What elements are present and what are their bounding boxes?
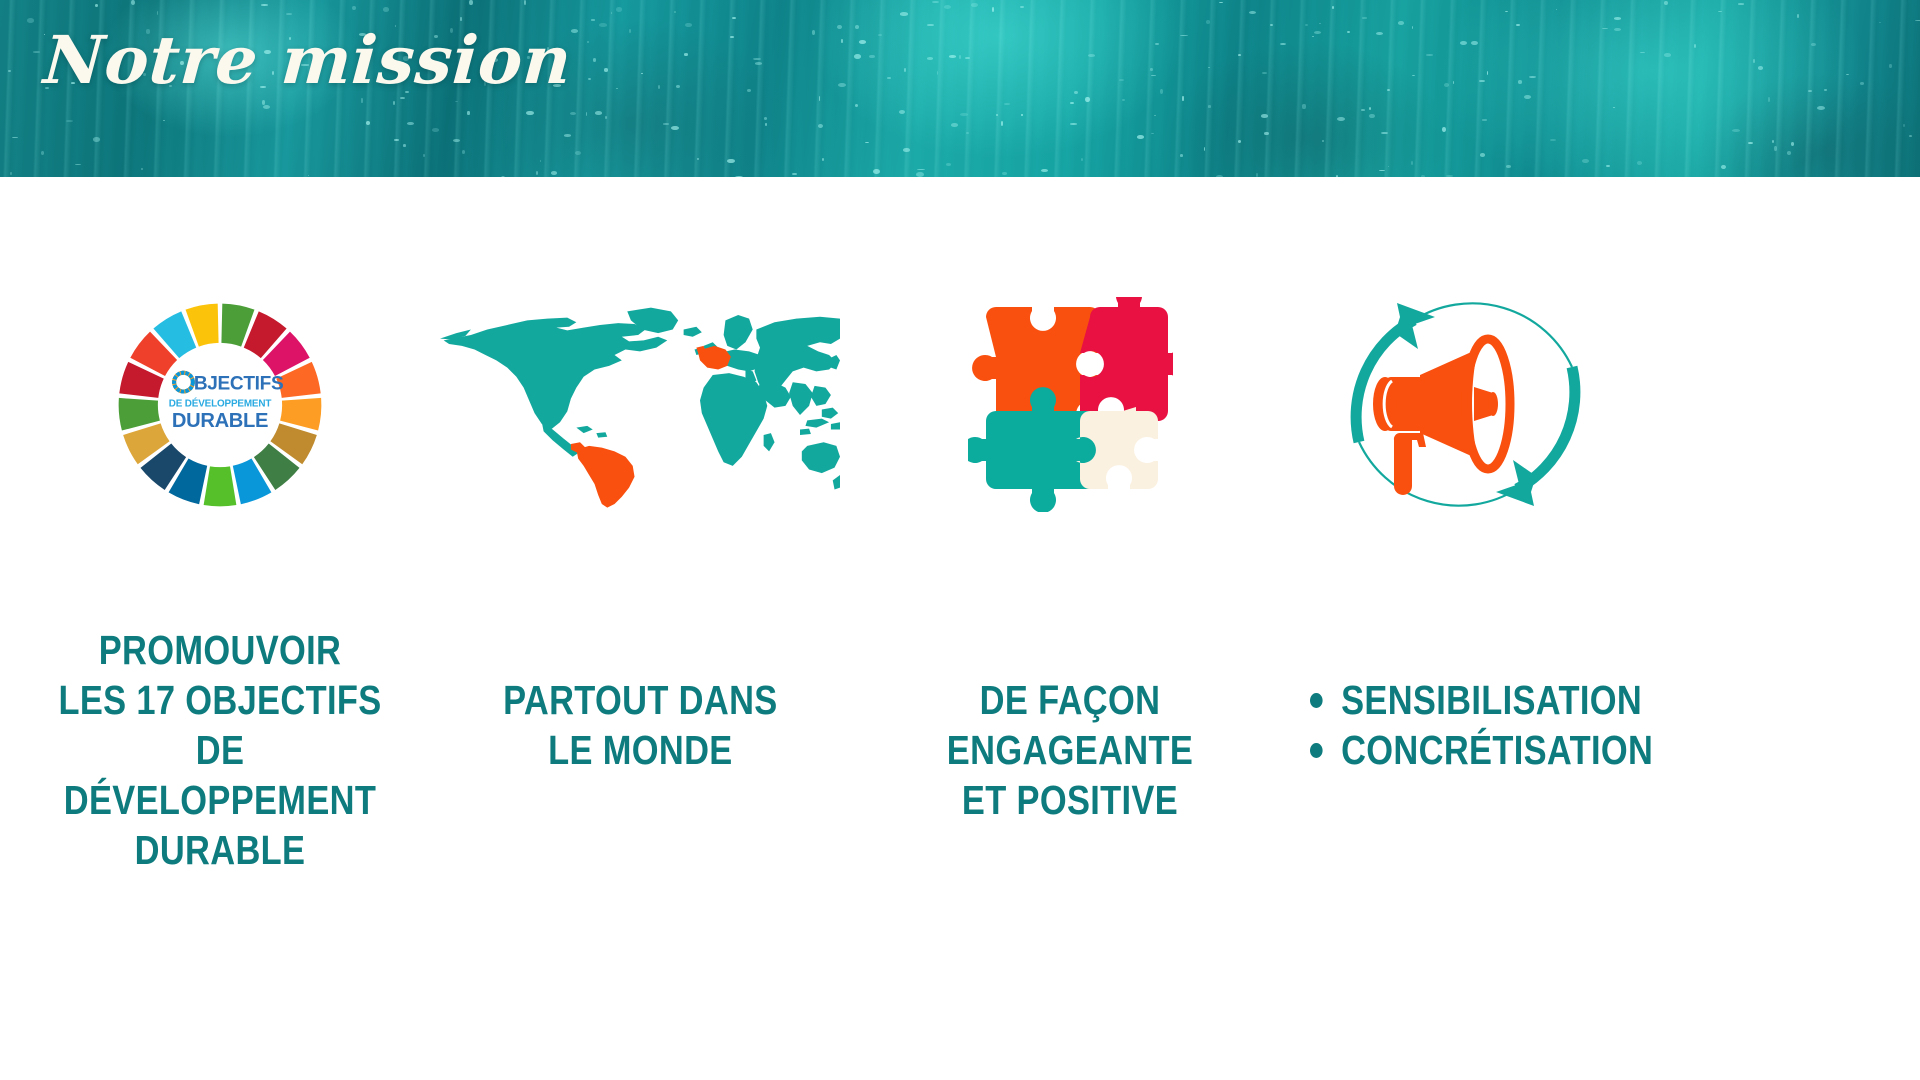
texture-speckle <box>1088 54 1095 57</box>
texture-speckle <box>812 30 816 35</box>
texture-speckle <box>1550 139 1556 142</box>
texture-speckle <box>927 24 934 27</box>
texture-speckle <box>8 70 11 72</box>
texture-speckle <box>949 55 956 58</box>
texture-speckle <box>551 171 557 175</box>
texture-speckle <box>10 172 11 175</box>
texture-speckle <box>903 148 909 152</box>
texture-speckle <box>900 12 908 15</box>
texture-speckle <box>1302 104 1305 108</box>
texture-speckle <box>616 88 618 90</box>
megaphone-cycle-icon-slot <box>1310 177 1920 507</box>
texture-speckle <box>1001 121 1004 126</box>
texture-speckle <box>591 19 595 20</box>
texture-speckle <box>965 57 970 59</box>
texture-speckle <box>352 6 356 10</box>
texture-speckle <box>1041 169 1048 173</box>
texture-speckle <box>959 55 961 58</box>
texture-speckle <box>671 126 679 130</box>
texture-speckle <box>841 39 843 44</box>
texture-speckle <box>526 111 534 116</box>
texture-speckle <box>1824 89 1827 90</box>
texture-speckle <box>1379 170 1385 171</box>
texture-speckle <box>946 163 951 166</box>
texture-speckle <box>641 73 642 75</box>
texture-speckle <box>1613 107 1615 108</box>
texture-speckle <box>1070 123 1077 125</box>
texture-speckle <box>611 12 612 14</box>
texture-speckle <box>792 173 797 176</box>
texture-speckle <box>1412 75 1415 76</box>
texture-speckle <box>873 169 880 174</box>
texture-speckle <box>1160 89 1163 93</box>
slide-root: Notre mission <box>0 0 1920 1080</box>
pillar-actions: SENSIBILISATION CONCRÉTISATION <box>1300 177 1920 875</box>
bullet-label: SENSIBILISATION <box>1341 675 1642 725</box>
texture-speckle <box>1085 97 1090 102</box>
texture-speckle <box>1376 32 1383 35</box>
puzzle-piece-crimson <box>1080 297 1173 421</box>
texture-speckle <box>1721 165 1726 169</box>
texture-speckle <box>163 120 164 121</box>
texture-speckle <box>564 134 571 136</box>
texture-speckle <box>960 113 968 117</box>
texture-speckle <box>570 112 576 115</box>
texture-speckle <box>855 104 858 107</box>
texture-speckle <box>308 175 309 176</box>
sdg-wheel-segment <box>204 466 237 506</box>
texture-speckle <box>697 158 700 160</box>
texture-speckle <box>869 55 875 58</box>
texture-speckle <box>1903 124 1905 126</box>
texture-speckle <box>1614 17 1622 20</box>
texture-speckle <box>1479 80 1485 82</box>
texture-speckle <box>394 139 399 141</box>
texture-speckle <box>1322 140 1325 143</box>
texture-speckle <box>996 114 998 116</box>
texture-speckle <box>1774 146 1776 151</box>
texture-speckle <box>75 164 81 165</box>
bullet-label: CONCRÉTISATION <box>1341 725 1653 775</box>
texture-speckle <box>605 116 607 119</box>
megaphone-cycle-icon <box>1328 287 1603 522</box>
texture-speckle <box>1442 127 1446 132</box>
texture-speckle <box>1020 6 1024 8</box>
texture-speckle <box>1204 147 1206 151</box>
texture-speckle <box>12 137 18 138</box>
texture-speckle <box>1412 26 1413 29</box>
texture-speckle <box>1208 67 1210 69</box>
texture-speckle <box>819 96 820 101</box>
texture-speckle <box>684 53 689 56</box>
texture-speckle <box>1081 158 1083 161</box>
texture-speckle <box>904 68 906 72</box>
sdg-wheel-icon: BJECTIFS DE DÉVELOPPEMENT DURABLE <box>111 296 329 514</box>
bullet-dot-icon <box>1310 693 1323 708</box>
texture-speckle <box>1347 31 1350 34</box>
texture-speckle <box>1482 119 1487 120</box>
texture-speckle <box>286 13 292 15</box>
puzzle-pieces-icon-slot <box>840 177 1300 507</box>
texture-speckle <box>732 17 736 19</box>
texture-speckle <box>1732 129 1740 132</box>
texture-speckle <box>1637 161 1643 165</box>
texture-speckle <box>1319 23 1321 24</box>
puzzle-pieces-icon <box>968 297 1173 512</box>
texture-speckle <box>1305 24 1308 27</box>
texture-speckle <box>951 123 958 127</box>
pillar-promote-caption: PROMOUVOIR LES 17 OBJECTIFS DE DÉVELOPPE… <box>35 625 405 875</box>
texture-speckle <box>1362 17 1368 19</box>
texture-speckle <box>1797 14 1799 17</box>
texture-speckle <box>1787 151 1792 155</box>
texture-speckle <box>262 100 265 104</box>
texture-speckle <box>393 101 395 105</box>
pillar-promote: BJECTIFS DE DÉVELOPPEMENT DURABLE PROMOU… <box>0 177 440 875</box>
sdg-label-developpement: DE DÉVELOPPEMENT <box>169 398 272 409</box>
texture-speckle <box>1388 166 1389 167</box>
texture-speckle <box>1219 2 1222 3</box>
texture-speckle <box>854 54 861 59</box>
texture-speckle <box>1516 24 1520 26</box>
texture-speckle <box>1361 109 1365 112</box>
texture-speckle <box>1556 9 1558 11</box>
texture-speckle <box>1151 133 1154 134</box>
texture-speckle <box>674 11 676 13</box>
world-map-landmasses-teal <box>440 308 840 490</box>
texture-speckle <box>1249 11 1256 14</box>
texture-speckle <box>157 11 158 15</box>
texture-speckle <box>629 29 631 32</box>
texture-speckle <box>917 169 925 170</box>
texture-speckle <box>966 132 968 134</box>
texture-speckle <box>1758 66 1763 69</box>
texture-speckle <box>1314 31 1321 34</box>
texture-speckle <box>1180 35 1188 36</box>
texture-speckle <box>588 78 591 80</box>
texture-speckle <box>593 58 597 62</box>
texture-speckle <box>455 101 458 102</box>
world-map-icon <box>440 292 840 517</box>
texture-speckle <box>1398 21 1404 25</box>
texture-speckle <box>727 159 735 164</box>
texture-speckle <box>1808 90 1812 92</box>
texture-speckle <box>676 85 680 88</box>
texture-speckle <box>1889 64 1891 68</box>
texture-speckle <box>93 137 101 142</box>
texture-speckle <box>1480 153 1485 156</box>
texture-speckle <box>1582 159 1589 164</box>
texture-speckle <box>887 77 890 79</box>
world-map-icon-slot <box>440 177 840 507</box>
texture-speckle <box>878 34 882 36</box>
texture-speckle <box>432 128 439 132</box>
texture-speckle <box>1444 83 1449 87</box>
texture-speckle <box>586 112 587 116</box>
texture-speckle <box>1182 96 1183 101</box>
texture-speckle <box>1238 54 1241 56</box>
texture-speckle <box>685 23 692 28</box>
texture-speckle <box>599 23 607 27</box>
texture-speckle <box>932 1 939 3</box>
texture-speckle <box>837 25 841 29</box>
texture-speckle <box>1369 107 1371 110</box>
texture-speckle <box>1879 22 1881 24</box>
texture-speckle <box>1387 89 1390 91</box>
texture-speckle <box>1506 165 1511 168</box>
texture-speckle <box>755 62 763 65</box>
texture-speckle <box>1471 41 1478 45</box>
texture-speckle <box>1261 114 1268 118</box>
page-title: Notre mission <box>42 26 574 95</box>
texture-speckle <box>747 89 751 92</box>
texture-speckle <box>462 150 466 154</box>
texture-speckle <box>1264 132 1268 136</box>
texture-speckle <box>937 71 938 75</box>
texture-speckle <box>131 0 135 5</box>
texture-speckle <box>536 171 538 175</box>
texture-speckle <box>95 4 98 7</box>
texture-speckle <box>1070 102 1075 105</box>
texture-speckle <box>383 7 390 12</box>
texture-speckle <box>1369 114 1374 119</box>
pillar-actions-bullet-list: SENSIBILISATION CONCRÉTISATION <box>1310 675 1653 775</box>
sdg-wheel-icon-slot: BJECTIFS DE DÉVELOPPEMENT DURABLE <box>0 177 440 507</box>
bullet-dot-icon <box>1310 743 1323 758</box>
bullet-item-sensibilisation: SENSIBILISATION <box>1310 675 1653 725</box>
texture-speckle <box>1426 54 1433 56</box>
texture-speckle <box>33 51 41 53</box>
texture-speckle <box>764 117 767 120</box>
texture-speckle <box>366 121 370 125</box>
texture-speckle <box>1381 132 1388 135</box>
texture-speckle <box>971 3 978 8</box>
texture-speckle <box>1119 79 1124 81</box>
texture-speckle <box>730 36 733 38</box>
texture-speckle <box>1122 99 1125 101</box>
texture-speckle <box>1487 71 1489 75</box>
texture-speckle <box>1718 11 1722 12</box>
texture-speckle <box>1337 117 1345 121</box>
sdg-label-objectifs: BJECTIFS <box>194 373 284 394</box>
texture-speckle <box>944 5 952 9</box>
texture-speckle <box>467 111 469 115</box>
texture-speckle <box>899 110 905 114</box>
texture-speckle <box>1753 59 1755 63</box>
texture-speckle <box>1150 68 1152 71</box>
texture-speckle <box>540 160 541 162</box>
texture-speckle <box>1772 140 1774 143</box>
texture-speckle <box>1768 97 1770 102</box>
texture-speckle <box>1614 28 1621 32</box>
texture-speckle <box>1453 81 1455 84</box>
world-map-highlight-orange <box>571 346 731 508</box>
megaphone-icon <box>1373 339 1510 495</box>
texture-speckle <box>859 40 866 44</box>
texture-speckle <box>141 168 142 170</box>
texture-speckle <box>1664 53 1671 57</box>
texture-speckle <box>1002 172 1007 176</box>
texture-speckle <box>1748 142 1754 144</box>
texture-speckle <box>1262 72 1267 74</box>
texture-speckle <box>616 7 623 12</box>
texture-speckle <box>66 120 73 123</box>
texture-speckle <box>575 151 581 155</box>
texture-speckle <box>1280 43 1286 45</box>
texture-speckle <box>1860 82 1864 85</box>
texture-speckle <box>1180 154 1183 157</box>
texture-speckle <box>1811 43 1816 46</box>
texture-speckle <box>1208 105 1211 107</box>
texture-speckle <box>407 122 414 126</box>
texture-speckle <box>855 25 859 29</box>
texture-speckle <box>361 98 362 103</box>
texture-speckle <box>1154 115 1156 116</box>
texture-speckle <box>1004 103 1011 105</box>
texture-speckle <box>1915 20 1920 21</box>
mission-pillars: BJECTIFS DE DÉVELOPPEMENT DURABLE PROMOU… <box>0 177 1920 1080</box>
texture-speckle <box>1738 3 1744 5</box>
texture-speckle <box>1137 135 1144 139</box>
texture-speckle <box>1270 24 1273 26</box>
texture-speckle <box>1529 76 1536 78</box>
header-band: Notre mission <box>0 0 1920 177</box>
texture-speckle <box>1505 11 1508 12</box>
texture-speckle <box>1411 161 1414 166</box>
texture-speckle <box>1694 44 1696 48</box>
texture-speckle <box>838 83 846 87</box>
texture-speckle <box>1151 75 1156 77</box>
texture-speckle <box>658 85 660 89</box>
texture-speckle <box>1909 135 1912 137</box>
sdg-label-durable: DURABLE <box>172 409 268 431</box>
texture-speckle <box>261 4 267 5</box>
texture-speckle <box>469 0 472 5</box>
texture-speckle <box>41 151 45 156</box>
texture-speckle <box>263 105 270 109</box>
texture-speckle <box>992 7 994 12</box>
texture-speckle <box>765 123 767 125</box>
pillar-world: PARTOUT DANS LE MONDE <box>440 177 840 875</box>
texture-speckle <box>1817 106 1825 110</box>
texture-speckle <box>1155 43 1159 45</box>
texture-speckle <box>1606 165 1610 167</box>
texture-speckle <box>1664 1 1668 5</box>
texture-speckle <box>403 144 406 147</box>
pillar-world-caption: PARTOUT DANS LE MONDE <box>503 675 777 775</box>
pillar-engage: DE FAÇON ENGAGEANTE ET POSITIVE <box>840 177 1300 875</box>
texture-speckle <box>822 158 825 161</box>
texture-speckle <box>1524 95 1531 99</box>
texture-speckle <box>453 139 460 142</box>
texture-speckle <box>1602 28 1608 29</box>
texture-speckle <box>423 154 424 157</box>
texture-speckle <box>1332 6 1334 10</box>
texture-speckle <box>1238 140 1241 143</box>
pillar-engage-caption: DE FAÇON ENGAGEANTE ET POSITIVE <box>877 675 1263 825</box>
texture-speckle <box>865 142 869 143</box>
texture-speckle <box>1021 114 1023 117</box>
texture-speckle <box>753 58 761 60</box>
texture-speckle <box>1518 80 1522 84</box>
texture-speckle <box>1791 142 1794 146</box>
texture-speckle <box>663 123 669 124</box>
texture-speckle <box>595 111 602 115</box>
texture-speckle <box>927 57 933 59</box>
texture-speckle <box>604 68 608 72</box>
texture-speckle <box>1206 20 1210 24</box>
texture-speckle <box>1640 52 1644 54</box>
texture-speckle <box>524 0 526 5</box>
texture-speckle <box>818 124 823 128</box>
texture-speckle <box>1846 74 1849 75</box>
texture-speckle <box>27 18 35 23</box>
texture-speckle <box>587 41 590 43</box>
texture-speckle <box>1312 36 1314 37</box>
texture-speckle <box>1460 41 1467 45</box>
texture-speckle <box>1074 91 1078 94</box>
bullet-item-concretisation: CONCRÉTISATION <box>1310 725 1653 775</box>
